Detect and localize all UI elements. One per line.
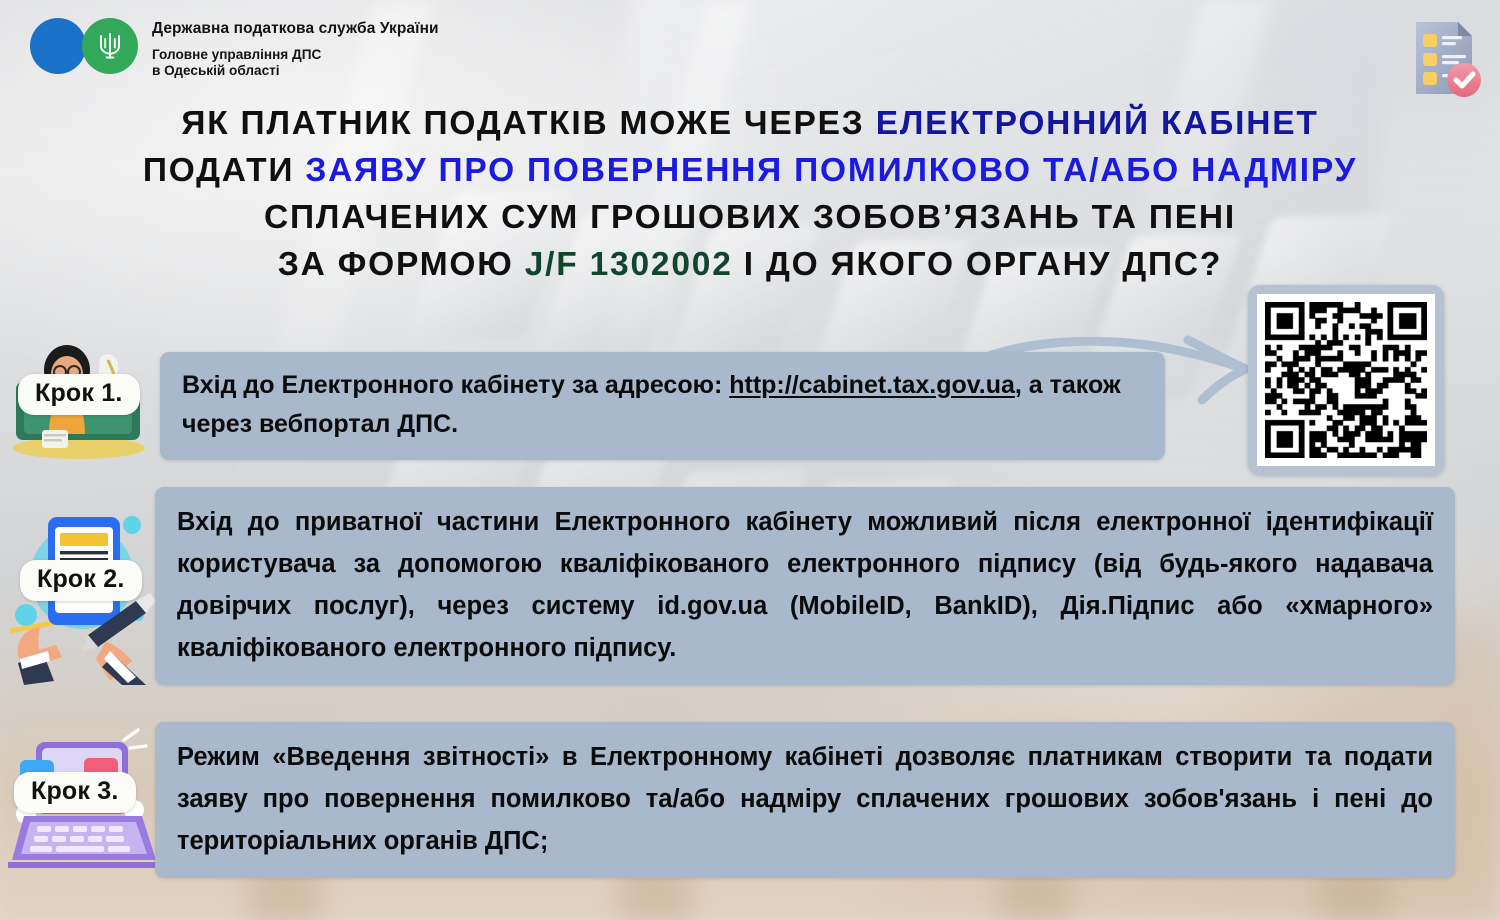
title-line-4-black-b: І ДО ЯКОГО ОРГАНУ ДПС? [733, 246, 1222, 283]
qr-code[interactable] [1248, 285, 1444, 475]
step-2-panel: Вхід до приватної частини Електронного к… [155, 487, 1455, 685]
header-text-block: Державна податкова служба України Головн… [152, 18, 439, 79]
step-badge-1: Крок 1. [18, 374, 140, 415]
title-line-1-highlight: ЕЛЕКТРОННИЙ КАБІНЕТ [876, 105, 1319, 142]
title-line-2-black: ПОДАТИ [143, 152, 306, 189]
logo-blue-circle [30, 18, 86, 74]
title-line-1: ЯК ПЛАТНИК ПОДАТКІВ МОЖЕ ЧЕРЕЗ ЕЛЕКТРОНН… [24, 100, 1476, 147]
step-3-panel: Режим «Введення звітності» в Електронном… [155, 722, 1455, 878]
org-subtitle: Головне управління ДПС в Одеській област… [152, 47, 439, 79]
page-title: ЯК ПЛАТНИК ПОДАТКІВ МОЖЕ ЧЕРЕЗ ЕЛЕКТРОНН… [0, 100, 1500, 288]
cabinet-url-link[interactable]: http://cabinet.tax.gov.ua [729, 371, 1015, 399]
title-line-2-highlight: ЗАЯВУ ПРО ПОВЕРНЕННЯ ПОМИЛКОВО ТА/АБО НА… [305, 152, 1357, 189]
checklist-document-icon [1396, 12, 1488, 104]
step-1-text-before: Вхід до Електронного кабінету за адресою… [182, 371, 729, 399]
step-badge-2: Крок 2. [20, 560, 142, 601]
title-line-2: ПОДАТИ ЗАЯВУ ПРО ПОВЕРНЕННЯ ПОМИЛКОВО ТА… [24, 147, 1476, 194]
title-line-1-black: ЯК ПЛАТНИК ПОДАТКІВ МОЖЕ ЧЕРЕЗ [181, 105, 875, 142]
qr-code-inner [1257, 294, 1435, 466]
logo-green-circle [82, 18, 138, 74]
title-line-4-black-a: ЗА ФОРМОЮ [278, 246, 525, 283]
title-line-3: СПЛАЧЕНИХ СУМ ГРОШОВИХ ЗОБОВʼЯЗАНЬ ТА ПЕ… [24, 194, 1476, 241]
agency-logo [30, 18, 138, 74]
org-title: Державна податкова служба України [152, 20, 439, 38]
step-badge-3: Крок 3. [14, 772, 136, 813]
title-line-4: ЗА ФОРМОЮ J/F 1302002 І ДО ЯКОГО ОРГАНУ … [24, 241, 1476, 288]
qr-code-canvas [1265, 302, 1427, 458]
header: Державна податкова служба України Головн… [30, 18, 439, 79]
title-form-code: J/F 1302002 [525, 246, 733, 283]
org-subtitle-line-1: Головне управління ДПС [152, 47, 439, 63]
step-1-panel: Вхід до Електронного кабінету за адресою… [160, 352, 1165, 460]
trident-icon [97, 29, 123, 63]
org-subtitle-line-2: в Одеській області [152, 63, 439, 79]
